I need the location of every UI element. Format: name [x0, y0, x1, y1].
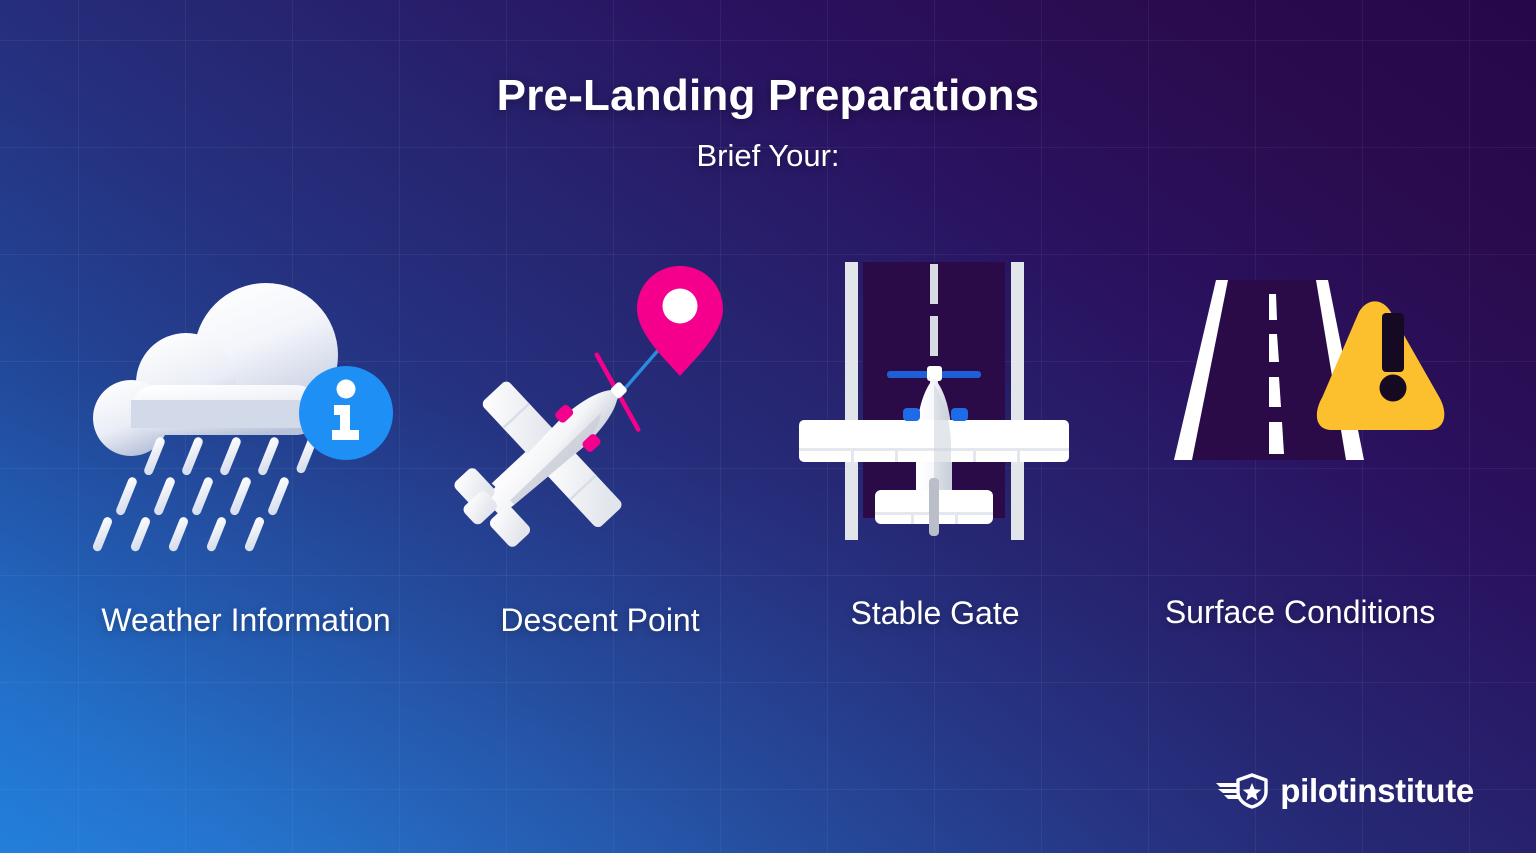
rain-cloud-info-icon	[76, 250, 416, 550]
airplane-top-view	[799, 366, 1069, 536]
road-warning-svg	[1130, 250, 1470, 550]
runway-airplane-top-svg	[765, 250, 1105, 550]
item-surface-conditions: Surface Conditions	[1130, 250, 1470, 670]
caption-surface-conditions: Surface Conditions	[1130, 594, 1470, 631]
winged-shield-star-emblem	[1216, 772, 1268, 808]
window-right	[951, 408, 968, 421]
caption-descent-point: Descent Point	[430, 602, 770, 639]
caption-weather-information: Weather Information	[76, 602, 416, 639]
vertical-fin	[929, 478, 939, 536]
cloud-shape	[93, 283, 338, 456]
slide-canvas: Pre-Landing Preparations Brief Your:	[0, 0, 1536, 853]
road-warning-icon	[1130, 250, 1470, 550]
airplane-map-pin-icon	[430, 250, 770, 550]
item-descent-point: Descent Point	[430, 250, 770, 670]
runway-airplane-top-icon	[765, 250, 1105, 550]
airplane-shape	[417, 321, 686, 588]
pilot-institute-logo[interactable]: pilotinstitute	[1216, 772, 1474, 808]
logo-wordmark: pilotinstitute	[1280, 774, 1474, 807]
airplane-map-pin-svg	[430, 250, 770, 550]
page-subtitle: Brief Your:	[0, 138, 1536, 174]
window-left	[903, 408, 920, 421]
rain-cloud-info-svg	[76, 250, 416, 550]
info-badge-icon	[299, 366, 393, 460]
runway-edge-right	[1011, 262, 1024, 540]
caption-stable-gate: Stable Gate	[765, 595, 1105, 632]
page-title: Pre-Landing Preparations	[0, 71, 1536, 121]
item-stable-gate: Stable Gate	[765, 250, 1105, 670]
runway-edge-left	[845, 262, 858, 540]
item-weather-information: Weather Information	[76, 250, 416, 670]
